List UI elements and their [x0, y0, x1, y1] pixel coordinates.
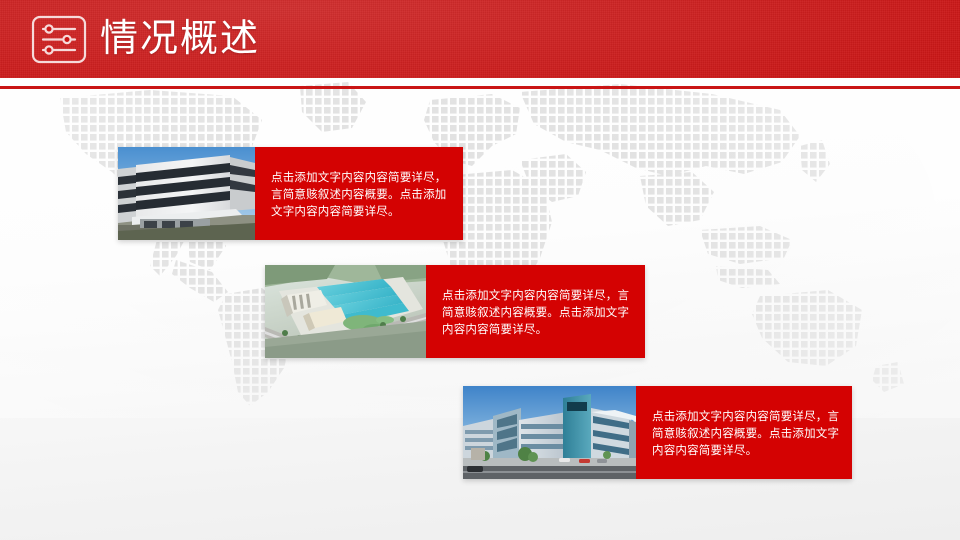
world-map-background	[0, 80, 960, 410]
page-title: 情况概述	[100, 12, 260, 66]
industrial-park-aerial-photo	[265, 265, 426, 358]
content-row-text: 点击添加文字内容内容简要详尽，言简意赅叙述内容概要。点击添加文字内容内容简要详尽…	[426, 265, 645, 358]
content-row-text: 点击添加文字内容内容简要详尽，言简意赅叙述内容概要。点击添加文字内容内容简要详尽…	[255, 147, 463, 240]
content-row-text: 点击添加文字内容内容简要详尽，言简意赅叙述内容概要。点击添加文字内容内容简要详尽…	[636, 386, 852, 479]
map-fade-overlay	[0, 78, 960, 418]
glass-office-complex-photo	[463, 386, 636, 479]
content-row[interactable]: 点击添加文字内容内容简要详尽，言简意赅叙述内容概要。点击添加文字内容内容简要详尽…	[463, 386, 852, 479]
content-row-text-value: 点击添加文字内容内容简要详尽，言简意赅叙述内容概要。点击添加文字内容内容简要详尽…	[271, 170, 453, 221]
sliders-settings-icon	[31, 15, 87, 64]
content-row[interactable]: 点击添加文字内容内容简要详尽，言简意赅叙述内容概要。点击添加文字内容内容简要详尽…	[265, 265, 645, 358]
slide: 情况概述	[0, 0, 960, 540]
content-row[interactable]: 点击添加文字内容内容简要详尽，言简意赅叙述内容概要。点击添加文字内容内容简要详尽…	[118, 147, 463, 240]
header-divider-rule	[0, 86, 960, 89]
office-building-photo	[118, 147, 255, 240]
content-row-text-value: 点击添加文字内容内容简要详尽，言简意赅叙述内容概要。点击添加文字内容内容简要详尽…	[442, 288, 635, 339]
content-row-text-value: 点击添加文字内容内容简要详尽，言简意赅叙述内容概要。点击添加文字内容内容简要详尽…	[652, 409, 842, 460]
